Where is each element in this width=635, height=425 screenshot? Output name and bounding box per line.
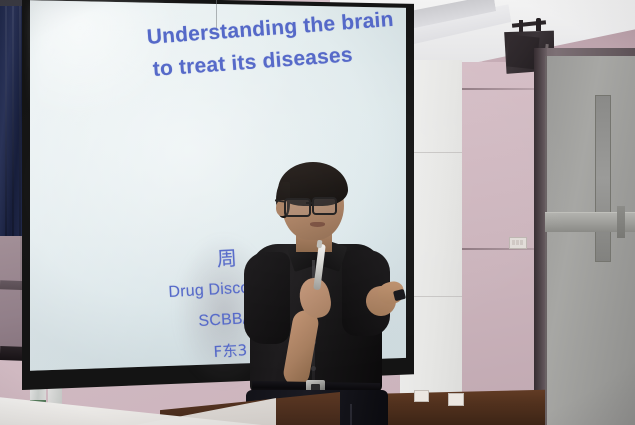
eyeglasses-lens-left	[284, 198, 311, 217]
classroom-door[interactable]	[545, 56, 635, 425]
eyeglasses-lens-right	[312, 197, 337, 215]
light-switch-button[interactable]	[512, 240, 515, 245]
wall-outlet[interactable]	[448, 393, 464, 406]
speaker-mount	[519, 20, 523, 32]
wall-outlet[interactable]	[414, 390, 429, 402]
light-switch-button[interactable]	[520, 240, 523, 245]
presenter-mouth	[310, 222, 325, 227]
wall-seam	[462, 88, 540, 90]
light-switch-button[interactable]	[516, 240, 519, 245]
wall-seam	[462, 248, 540, 250]
speaker-mount	[536, 18, 541, 31]
door-push-bar-mount	[617, 206, 625, 238]
slide-title-line2: to treat its diseases	[152, 43, 354, 82]
eyeglasses-bridge	[306, 202, 313, 204]
lecture-photo: Understanding the brain to treat its dis…	[0, 0, 635, 425]
slide-title-line1: Understanding the brain	[146, 8, 394, 50]
trouser-crease	[350, 404, 352, 425]
presentation-clicker[interactable]	[393, 289, 406, 301]
presenter-left-sleeve	[244, 252, 290, 344]
slide-presenter-name: 周	[216, 242, 238, 272]
pink-wall-segment	[462, 62, 540, 425]
light-switch-plate[interactable]	[509, 237, 527, 249]
shirt-button	[311, 366, 316, 371]
presenter	[238, 160, 408, 425]
door-vision-panel	[595, 95, 611, 262]
